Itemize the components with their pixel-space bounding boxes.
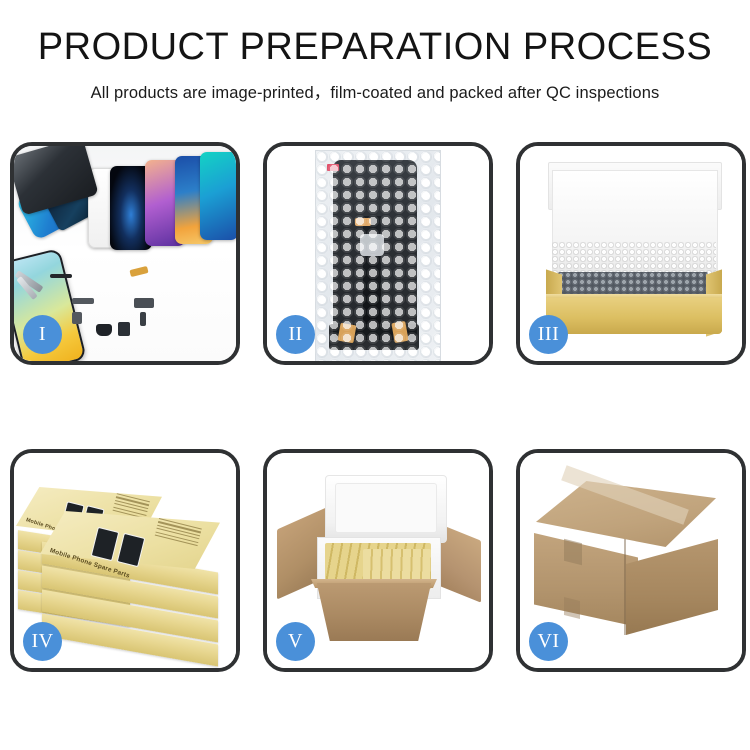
- step-panel-3: III: [516, 142, 746, 365]
- process-steps-grid: I II III: [10, 142, 746, 672]
- page-title: PRODUCT PREPARATION PROCESS: [0, 28, 750, 68]
- camera-module-part: [134, 298, 154, 308]
- packing-tape-front-lower: [564, 597, 580, 619]
- lcd-tape-1: [355, 218, 371, 226]
- step-badge-3: III: [529, 315, 568, 354]
- bag-seal-label: [327, 164, 339, 171]
- teal-gradient-screen: [200, 152, 236, 240]
- step-badge-4: IV: [23, 622, 62, 661]
- lcd-connector: [360, 234, 384, 256]
- carton-body: [309, 583, 439, 641]
- step-panel-2: II: [263, 142, 493, 365]
- page-header: PRODUCT PREPARATION PROCESS All products…: [0, 0, 750, 103]
- page-subtitle: All products are image-printed，film-coat…: [0, 79, 750, 103]
- kraft-tray-front: [546, 298, 722, 334]
- foam-lid-inner: [335, 483, 437, 533]
- step-badge-2: II: [276, 315, 315, 354]
- step-panel-1: I: [10, 142, 240, 365]
- step-badge-6: VI: [529, 622, 568, 661]
- lcd-flex-cable: [363, 216, 381, 324]
- power-flex-part: [72, 298, 94, 304]
- sealed-carton-edge: [624, 539, 626, 635]
- step-panel-6: VI: [516, 449, 746, 672]
- step-panel-5: V: [263, 449, 493, 672]
- loudspeaker-part: [96, 324, 112, 336]
- step-badge-5: V: [276, 622, 315, 661]
- step-badge-1: I: [23, 315, 62, 354]
- earpiece-part: [50, 274, 72, 278]
- volume-flex-part: [72, 312, 82, 324]
- step-panel-4: Mobile Phone Spare Parts Mobile Phone Sp…: [10, 449, 240, 672]
- antenna-flex-part: [140, 312, 146, 326]
- lcd-tape-2: [338, 323, 357, 344]
- battery-connector-part: [118, 322, 130, 336]
- packing-tape-front-upper: [564, 539, 582, 565]
